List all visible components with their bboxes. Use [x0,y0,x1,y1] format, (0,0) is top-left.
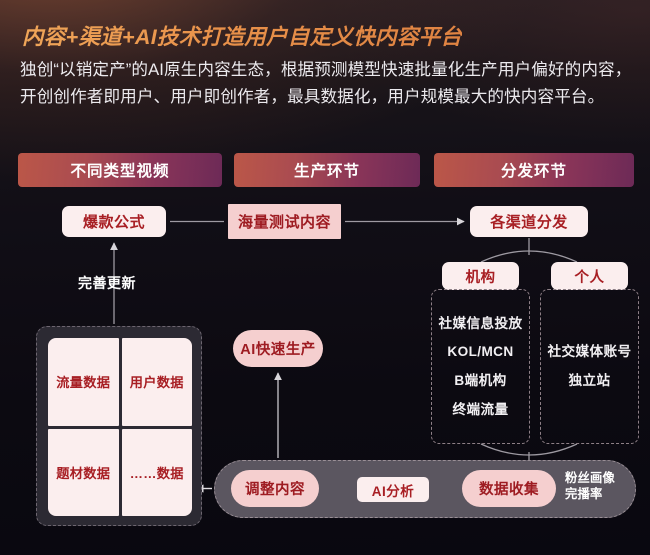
slide-canvas: 内容+渠道+AI技术打造用户自定义快内容平台 独创“以销定产”的AI原生内容生态… [0,0,650,555]
data-cell-traffic[interactable]: 流量数据 [48,338,119,426]
panel-item: 社媒信息投放 [439,309,523,338]
panel-item: 社交媒体账号 [548,338,632,367]
panel-item: KOL/MCN [447,338,513,367]
page-title: 内容+渠道+AI技术打造用户自定义快内容平台 [22,20,462,51]
phase-bar-video-types[interactable]: 不同类型视频 [18,153,222,187]
node-multi-channel-distribution[interactable]: 各渠道分发 [470,206,588,237]
data-cell-topic[interactable]: 题材数据 [48,429,119,517]
wire-arc-bottom [481,444,577,455]
phase-bar-production[interactable]: 生产环节 [234,153,420,187]
data-sources-grid: 流量数据 用户数据 题材数据 ……数据 [48,338,192,516]
panel-institution-channels: 社媒信息投放 KOL/MCN B端机构 终端流量 [431,289,530,444]
feedback-metrics-label: 粉丝画像 完播率 [565,470,637,502]
node-hit-formula[interactable]: 爆款公式 [62,206,166,237]
node-institution[interactable]: 机构 [442,262,519,290]
wire-arc-top [481,251,577,262]
panel-item: 终端流量 [453,395,509,424]
node-ai-fast-production[interactable]: AI快速生产 [233,330,323,367]
data-cell-other[interactable]: ……数据 [122,429,193,517]
node-data-collection[interactable]: 数据收集 [462,470,556,507]
node-mass-testing-content[interactable]: 海量测试内容 [228,204,341,239]
panel-individual-channels: 社交媒体账号 独立站 [540,289,639,444]
metric-completion-rate: 完播率 [565,486,637,502]
panel-item: B端机构 [454,367,506,396]
connector-label-refine-update: 完善更新 [78,273,136,293]
data-cell-user[interactable]: 用户数据 [122,338,193,426]
node-individual[interactable]: 个人 [551,262,628,290]
node-ai-analysis[interactable]: AI分析 [357,477,429,502]
data-sources-box: 流量数据 用户数据 题材数据 ……数据 [36,326,202,526]
phase-bar-distribution[interactable]: 分发环节 [434,153,634,187]
metric-audience-profile: 粉丝画像 [565,470,637,486]
page-subtitle: 独创“以销定产”的AI原生内容生态，根据预测模型快速批量化生产用户偏好的内容，开… [20,57,636,110]
node-adjust-content[interactable]: 调整内容 [231,470,319,507]
panel-item: 独立站 [569,367,611,396]
